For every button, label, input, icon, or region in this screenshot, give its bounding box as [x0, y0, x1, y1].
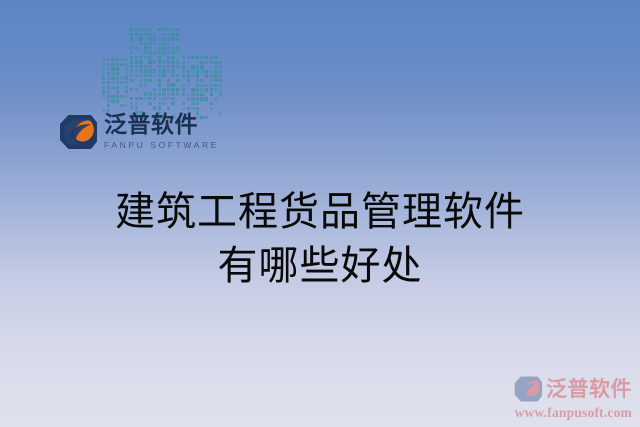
page-title-line-2: 有哪些好处 [0, 239, 640, 293]
watermark-brand-name: 泛普软件 [546, 379, 632, 400]
brand-name-cn: 泛普软件 [104, 114, 219, 137]
brand-logo: 泛普软件 FANPU SOFTWARE [58, 108, 208, 156]
watermark: 泛普软件 www.fanpusoft.com [484, 375, 632, 421]
brand-logo-wordmark: 泛普软件 FANPU SOFTWARE [104, 114, 219, 150]
page-title-line-1: 建筑工程货品管理软件 [0, 185, 640, 239]
fanpu-logo-icon [58, 113, 98, 151]
watermark-fanpu-logo-icon [513, 375, 543, 403]
brand-name-en: FANPU SOFTWARE [104, 141, 219, 150]
page-title: 建筑工程货品管理软件 有哪些好处 [0, 185, 640, 293]
watermark-url: www.fanpusoft.com [484, 405, 632, 421]
pixel-skyline-decoration [78, 18, 228, 116]
promo-banner: 泛普软件 FANPU SOFTWARE 建筑工程货品管理软件 有哪些好处 泛普软… [0, 0, 640, 427]
watermark-brand-row: 泛普软件 [484, 375, 632, 403]
